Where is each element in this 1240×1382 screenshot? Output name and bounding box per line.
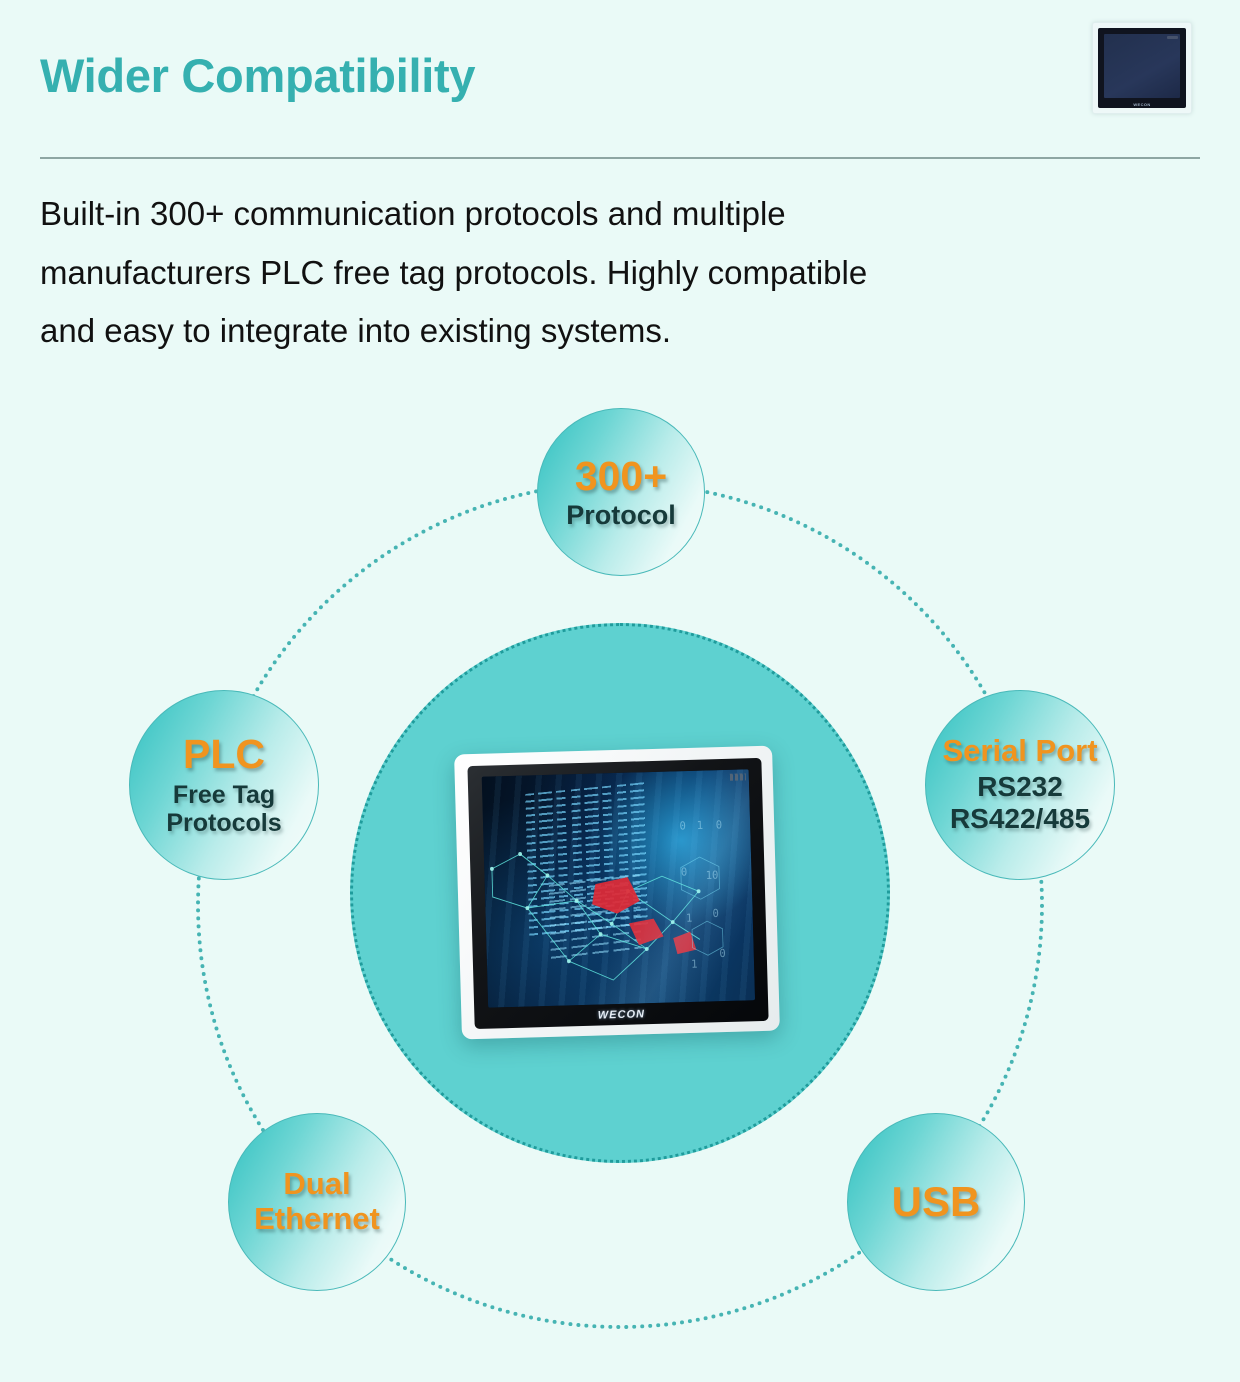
hmi-device-illustration: 010 010 01 01 WECON: [454, 746, 780, 1040]
bubble-protocol[interactable]: 300+ Protocol: [537, 408, 705, 576]
bubble-serial-subtitle-line1: RS232: [977, 771, 1063, 803]
bubble-plc-subtitle-line1: Free Tag: [173, 781, 275, 809]
bubble-ethernet-title-line2: Ethernet: [254, 1202, 380, 1237]
bubble-serial-port[interactable]: Serial Port RS232 RS422/485: [925, 690, 1115, 880]
bubble-serial-subtitle-line2: RS422/485: [950, 803, 1090, 835]
bubble-plc-subtitle-line2: Protocols: [166, 809, 281, 837]
body-line-3: and easy to integrate into existing syst…: [40, 302, 1173, 361]
bubble-usb[interactable]: USB: [847, 1113, 1025, 1291]
bubble-plc[interactable]: PLC Free Tag Protocols: [129, 690, 319, 880]
bubble-serial-title: Serial Port: [942, 735, 1097, 768]
device-outer-bezel: 010 010 01 01 WECON: [454, 746, 780, 1040]
bubble-dual-ethernet[interactable]: Dual Ethernet: [228, 1113, 406, 1291]
compatibility-diagram: 010 010 01 01 WECON 300+ Protocol: [0, 390, 1240, 1382]
compatibility-slide: Wider Compatibility WECON Built-in 300+ …: [0, 0, 1240, 1382]
device-inner-bezel: 010 010 01 01 WECON: [467, 758, 768, 1029]
bubble-ethernet-title-line1: Dual: [283, 1167, 350, 1202]
body-line-2: manufacturers PLC free tag protocols. Hi…: [40, 244, 1173, 303]
hmi-panel-thumbnail: WECON: [1092, 22, 1192, 114]
bubble-usb-title: USB: [892, 1180, 981, 1224]
device-indicator-icon: [730, 773, 746, 780]
header-divider: [40, 157, 1200, 159]
body-paragraph: Built-in 300+ communication protocols an…: [40, 185, 1173, 361]
body-line-1: Built-in 300+ communication protocols an…: [40, 185, 1173, 244]
bubble-protocol-subtitle: Protocol: [566, 501, 676, 529]
hmi-thumbnail-logo: WECON: [1133, 102, 1150, 107]
page-header: Wider Compatibility WECON: [0, 0, 1240, 170]
device-screen: 010 010 01 01: [482, 769, 755, 1007]
page-title: Wider Compatibility: [40, 48, 475, 103]
hmi-thumbnail-screen: [1104, 34, 1180, 98]
bubble-plc-title: PLC: [183, 733, 265, 776]
bubble-protocol-title: 300+: [575, 455, 667, 498]
screen-glare: [482, 769, 755, 1007]
device-brand-logo: WECON: [598, 1008, 645, 1021]
hmi-thumbnail-indicator-icon: [1167, 36, 1178, 39]
hmi-thumbnail-body: WECON: [1098, 28, 1186, 108]
